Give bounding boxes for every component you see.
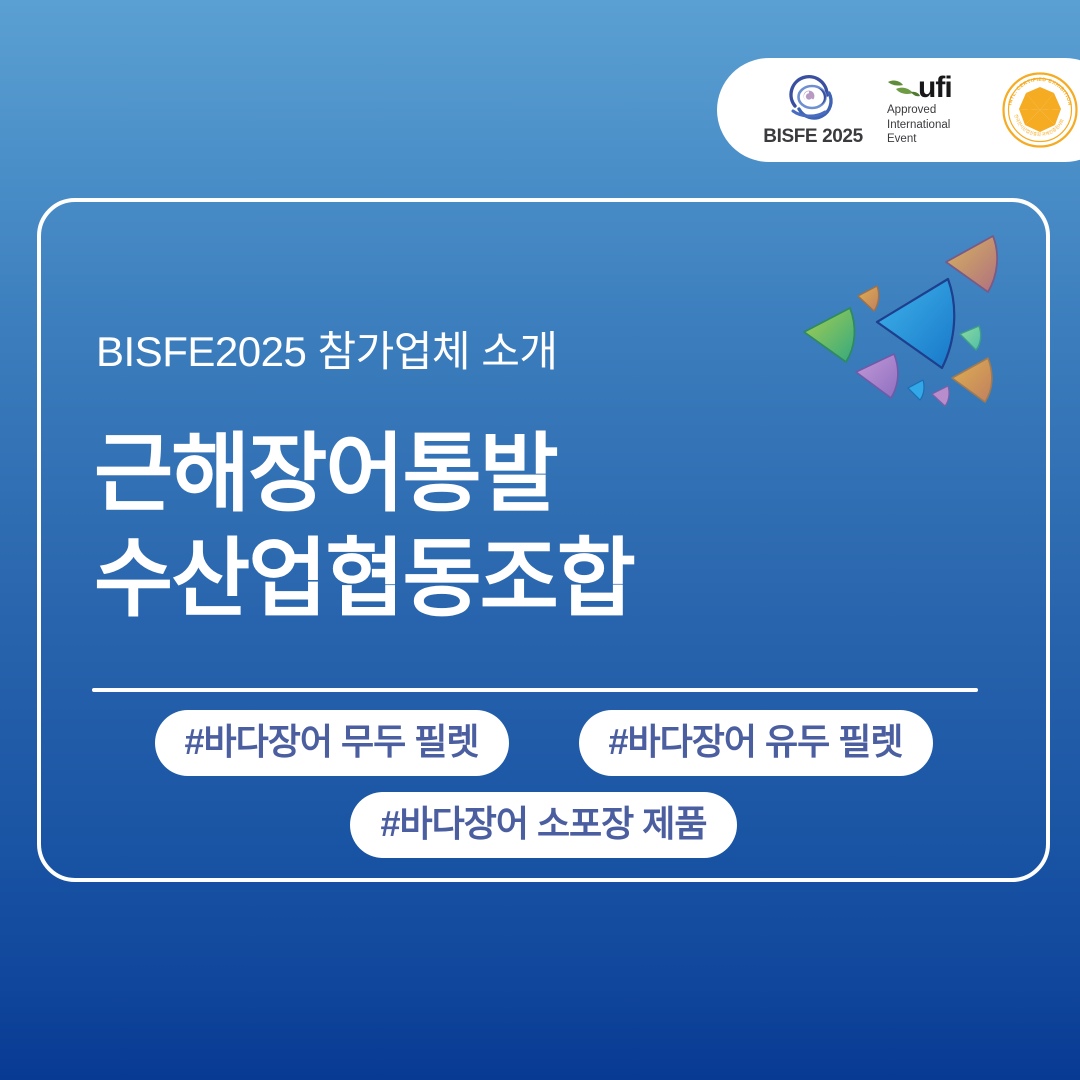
hashtag-group: #바다장어 무두 필렛 #바다장어 유두 필렛 #바다장어 소포장 제품	[37, 710, 1050, 874]
hashtag-pill[interactable]: #바다장어 유두 필렛	[579, 710, 933, 776]
ufi-leaf-icon	[887, 79, 921, 99]
bisfe-swirl-logo-icon	[785, 73, 841, 125]
page-subtitle: BISFE2025 참가업체 소개	[96, 318, 557, 379]
page-title: 근해장어통발 수산업협동조합	[94, 422, 634, 632]
ufi-logo: ufi Approved International Event	[887, 73, 985, 147]
hashtag-row-2: #바다장어 소포장 제품	[37, 792, 1050, 858]
bisfe-logo: BISFE 2025	[755, 73, 871, 148]
ufi-wordmark: ufi	[918, 75, 952, 101]
hashtag-pill[interactable]: #바다장어 소포장 제품	[350, 792, 736, 858]
ufi-sub-line1: Approved	[887, 103, 952, 118]
hashtag-pill[interactable]: #바다장어 무두 필렛	[155, 710, 509, 776]
ufi-sub-line2: International	[887, 118, 952, 133]
hashtag-row-1: #바다장어 무두 필렛 #바다장어 유두 필렛	[37, 710, 1050, 776]
certification-badge: BISFE 2025 ufi Approved Int	[717, 58, 1080, 162]
divider	[92, 688, 978, 692]
poster-canvas: BISFE 2025 ufi Approved Int	[0, 0, 1080, 1080]
bisfe-label: BISFE 2025	[763, 126, 863, 148]
intl-certified-exhibition-seal-icon: INTL. CERTIFIED EXHIBITION 한국전시산업진흥회 국제인…	[1001, 71, 1079, 149]
ufi-sub-line3: Event	[887, 132, 952, 147]
